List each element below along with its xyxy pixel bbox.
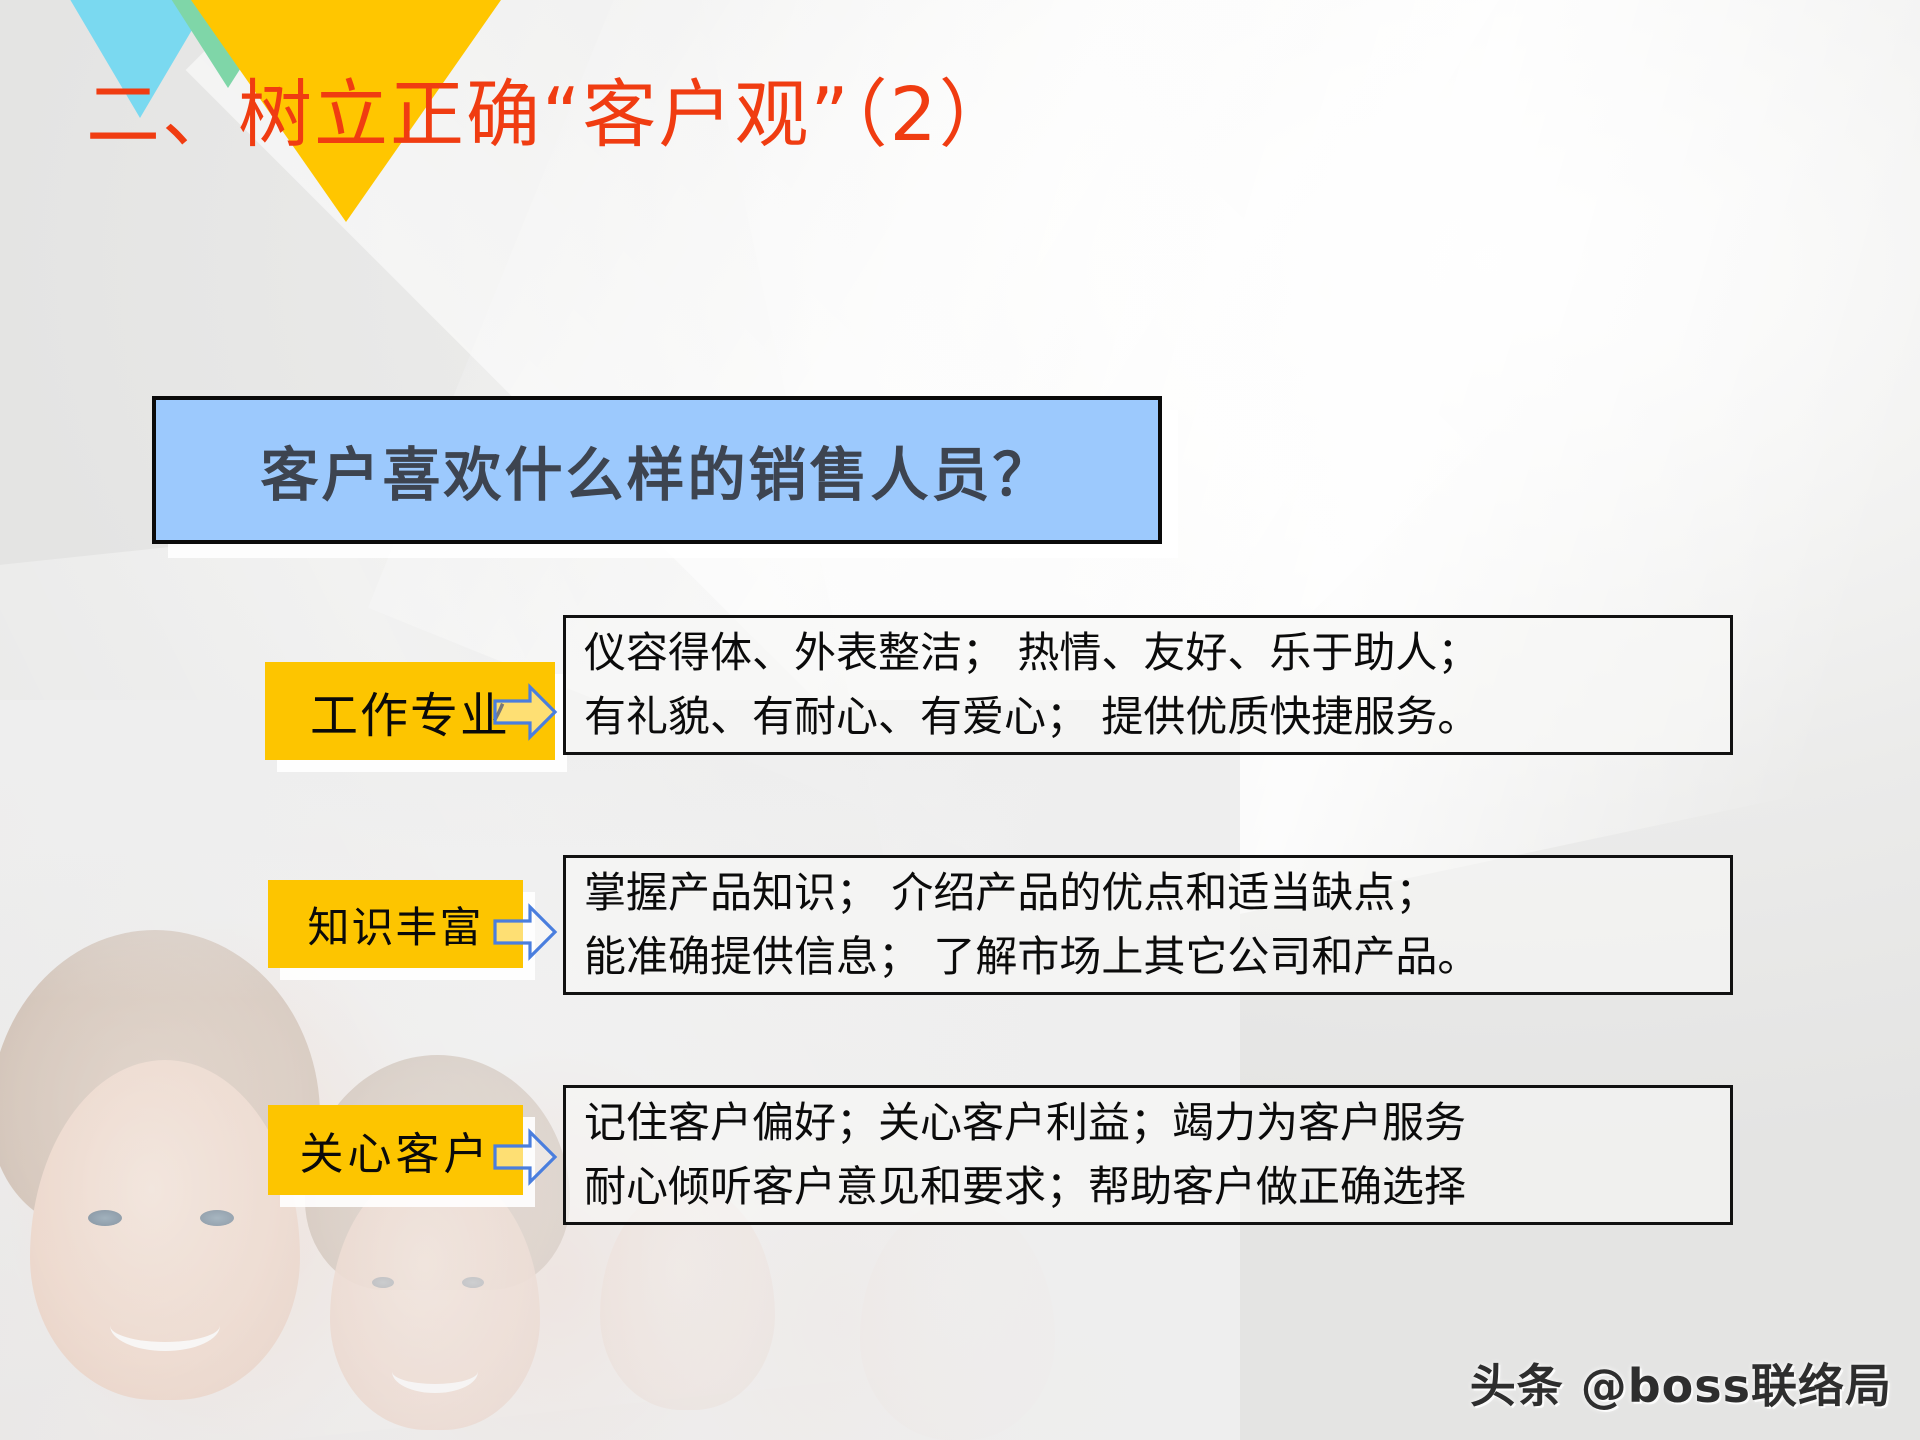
photo-smile-2: [392, 1350, 478, 1393]
arrow-right-icon-1: [492, 682, 558, 742]
header-question-text: 客户喜欢什么样的销售人员？: [260, 428, 1053, 512]
photo-smile-1: [110, 1300, 220, 1351]
slide-canvas: 二、树立正确“客户观”（2） 客户喜欢什么样的销售人员？ 工作专业 仪容得体、外…: [0, 0, 1920, 1440]
arrow-right-icon-3: [492, 1127, 558, 1187]
page-title: 二、树立正确“客户观”（2）: [86, 78, 1015, 152]
info-line: 掌握产品知识； 介绍产品的优点和适当缺点；: [584, 861, 1730, 925]
info-line: 记住客户偏好；关心客户利益；竭力为客户服务: [584, 1091, 1730, 1155]
info-line: 仪容得体、外表整洁； 热情、友好、乐于助人；: [584, 621, 1730, 685]
content-row-2: 知识丰富 掌握产品知识； 介绍产品的优点和适当缺点； 能准确提供信息； 了解市场…: [0, 840, 1920, 1010]
tag-label-2[interactable]: 知识丰富: [268, 880, 523, 968]
info-box-1: 仪容得体、外表整洁； 热情、友好、乐于助人； 有礼貌、有耐心、有爱心； 提供优质…: [563, 615, 1733, 755]
info-line: 能准确提供信息； 了解市场上其它公司和产品。: [584, 925, 1730, 989]
photo-face-4: [860, 1200, 1055, 1440]
info-box-3: 记住客户偏好；关心客户利益；竭力为客户服务 耐心倾听客户意见和要求；帮助客户做正…: [563, 1085, 1733, 1225]
content-row-3: 关心客户 记住客户偏好；关心客户利益；竭力为客户服务 耐心倾听客户意见和要求；帮…: [0, 1065, 1920, 1235]
info-line: 耐心倾听客户意见和要求；帮助客户做正确选择: [584, 1155, 1730, 1219]
info-box-2: 掌握产品知识； 介绍产品的优点和适当缺点； 能准确提供信息； 了解市场上其它公司…: [563, 855, 1733, 995]
info-line: 有礼貌、有耐心、有爱心； 提供优质快捷服务。: [584, 685, 1730, 749]
watermark: 头条 @boss联络局: [1470, 1350, 1892, 1416]
photo-eye-left-2: [372, 1277, 394, 1288]
arrow-right-icon-2: [492, 902, 558, 962]
photo-eye-right-2: [462, 1277, 484, 1288]
content-row-1: 工作专业 仪容得体、外表整洁； 热情、友好、乐于助人； 有礼貌、有耐心、有爱心；…: [0, 620, 1920, 790]
header-question-box: 客户喜欢什么样的销售人员？: [152, 396, 1162, 544]
tag-label-3[interactable]: 关心客户: [268, 1105, 523, 1195]
